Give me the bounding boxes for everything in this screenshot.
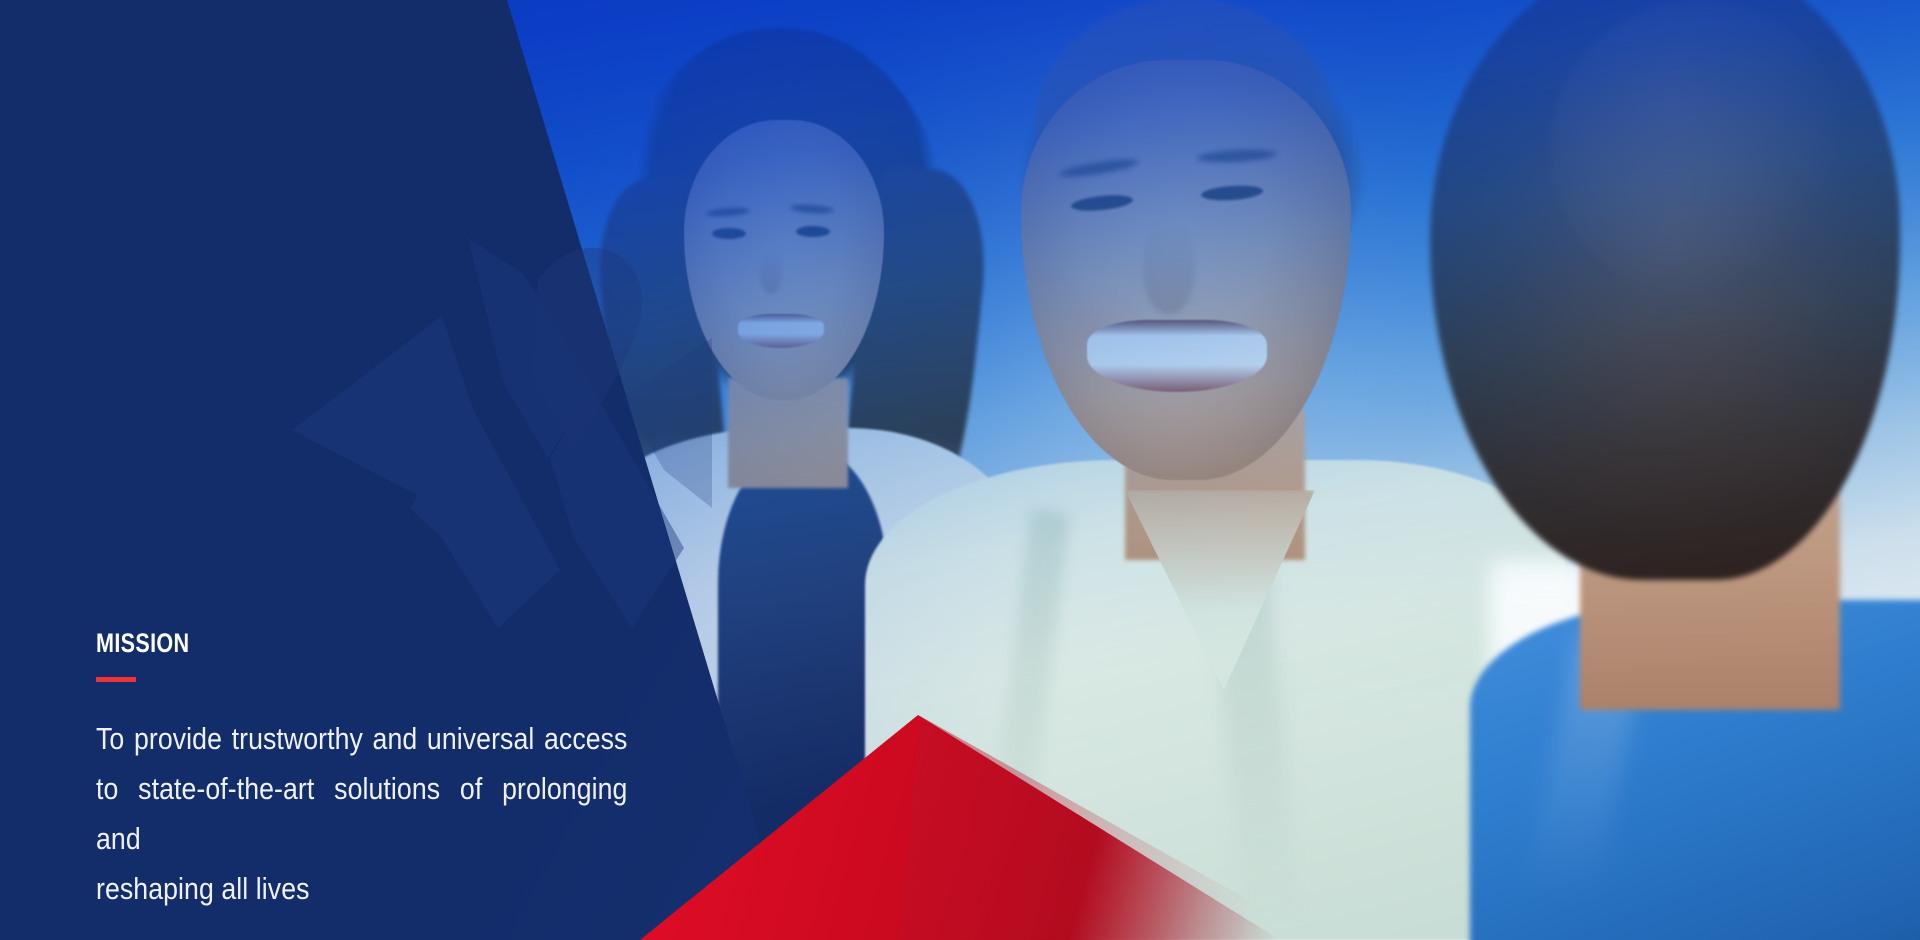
mission-banner: MISSION To provide trustworthy and unive… xyxy=(0,0,1920,940)
mission-content: MISSION To provide trustworthy and unive… xyxy=(96,630,716,914)
mission-statement-last-line: reshaping all lives xyxy=(96,864,627,914)
mission-statement-main: To provide trustworthy and universal acc… xyxy=(96,721,627,856)
accent-rule xyxy=(96,677,136,682)
mission-statement: To provide trustworthy and universal acc… xyxy=(96,714,627,914)
section-kicker: MISSION xyxy=(96,630,592,657)
